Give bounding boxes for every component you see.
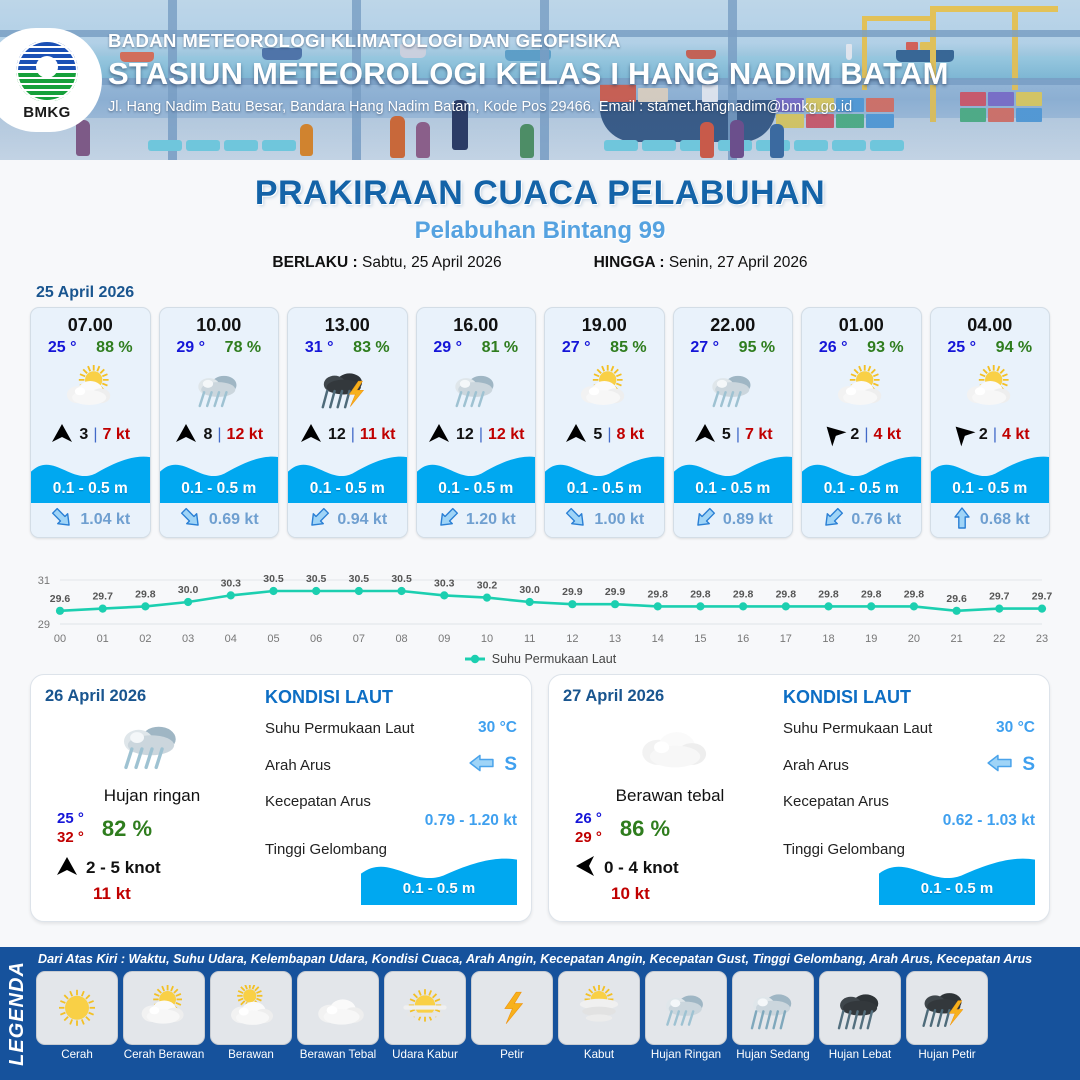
card-wind: 8 | 12 kt (160, 421, 279, 449)
svg-text:29.6: 29.6 (50, 593, 71, 605)
terminal-chair (832, 140, 866, 151)
svg-text:29.8: 29.8 (818, 588, 839, 600)
berawan-tebal-icon (563, 706, 777, 784)
current-speed-row: Kecepatan Arus (265, 793, 517, 810)
card-current-speed: 0.68 kt (980, 511, 1030, 529)
cerah-berawan-icon (802, 357, 921, 421)
validity-row: BERLAKU : Sabtu, 25 April 2026 HINGGA : … (0, 254, 1080, 272)
card-current: 1.04 kt (31, 503, 150, 537)
card-time: 10.00 (160, 308, 279, 336)
wind-separator: | (736, 426, 740, 444)
svg-text:21: 21 (950, 633, 962, 645)
agency-name: BADAN METEOROLOGI KLIMATOLOGI DAN GEOFIS… (108, 30, 949, 52)
card-humidity: 78 % (225, 339, 261, 357)
current-speed-row: Kecepatan Arus (783, 793, 1035, 810)
title-block: PRAKIRAAN CUACA PELABUHAN Pelabuhan Bint… (0, 160, 1080, 272)
svg-text:30.5: 30.5 (391, 573, 412, 585)
svg-text:29: 29 (38, 619, 50, 631)
sst-row: Suhu Permukaan Laut 30 °C (265, 719, 517, 737)
card-time: 22.00 (674, 308, 793, 336)
card-wave-height: 0.1 - 0.5 m (288, 480, 407, 498)
legend-item-label: Cerah Berawan (123, 1048, 205, 1061)
terminal-chair (186, 140, 220, 151)
current-direction-text: S (504, 754, 517, 776)
sst-chart-svg: 293129.60029.70129.80230.00330.30430.505… (18, 550, 1062, 650)
wind-direction-arrow-icon (693, 423, 717, 448)
legend-item: Hujan Ringan (645, 971, 727, 1061)
current-direction-label: Arah Arus (265, 757, 331, 774)
svg-text:02: 02 (139, 633, 151, 645)
svg-text:15: 15 (694, 633, 706, 645)
legend-item-label: Hujan Ringan (645, 1048, 727, 1061)
current-direction-arrow-icon (50, 506, 74, 535)
station-address: Jl. Hang Nadim Batu Besar, Bandara Hang … (108, 99, 949, 115)
card-gust: 7 kt (102, 426, 130, 444)
berawan-icon (210, 971, 292, 1045)
card-current: 1.20 kt (417, 503, 536, 537)
card-temperature: 26 ° (819, 339, 848, 357)
valid-from-label: BERLAKU : (272, 254, 357, 271)
svg-text:29.8: 29.8 (904, 588, 925, 600)
svg-text:08: 08 (395, 633, 407, 645)
daily-temp-max: 32 ° (57, 829, 84, 848)
svg-text:11: 11 (524, 633, 535, 645)
traveller-figure (390, 116, 405, 158)
legend-item-label: Udara Kabur (384, 1048, 466, 1061)
legend-item: Cerah Berawan (123, 971, 205, 1061)
cerah-berawan-icon (31, 357, 150, 421)
svg-text:29.7: 29.7 (1032, 591, 1053, 603)
daily-gust: 11 kt (45, 884, 259, 904)
card-humidity: 83 % (353, 339, 389, 357)
svg-text:03: 03 (182, 633, 194, 645)
card-wind-speed: 2 (850, 426, 859, 444)
current-direction-value: S (468, 748, 517, 782)
cerah-berawan-icon (931, 357, 1050, 421)
card-humidity: 95 % (739, 339, 775, 357)
daily-forecast-panel[interactable]: 26 April 2026 Hujan ringan 25 ° 32 ° 82 … (30, 674, 532, 922)
forecast-date-label: 25 April 2026 (36, 284, 1080, 302)
station-name: STASIUN METEOROLOGI KELAS I HANG NADIM B… (108, 56, 949, 92)
card-wind-speed: 5 (593, 426, 602, 444)
forecast-card[interactable]: 10.00 29 ° 78 % 8 | 12 kt 0.1 - 0.5 m 0.… (159, 307, 280, 538)
chart-legend: Suhu Permukaan Laut (0, 652, 1080, 666)
wind-direction-arrow-icon (55, 856, 79, 881)
daily-gust: 10 kt (563, 884, 777, 904)
svg-text:10: 10 (481, 633, 493, 645)
sea-condition-column: KONDISI LAUT Suhu Permukaan Laut 30 °C A… (777, 687, 1035, 909)
legend-item: Petir (471, 971, 553, 1061)
logo-sun-shape (36, 56, 58, 78)
forecast-card[interactable]: 01.00 26 ° 93 % 2 | 4 kt 0.1 - 0.5 m 0.7… (801, 307, 922, 538)
card-wind: 12 | 11 kt (288, 421, 407, 449)
card-current-speed: 0.94 kt (337, 511, 387, 529)
svg-text:29.8: 29.8 (690, 588, 711, 600)
card-wind: 5 | 7 kt (674, 421, 793, 449)
card-gust: 8 kt (616, 426, 644, 444)
svg-text:30.5: 30.5 (263, 573, 284, 585)
terminal-chair (794, 140, 828, 151)
daily-humidity: 86 % (620, 816, 670, 842)
card-humidity: 88 % (96, 339, 132, 357)
card-gust: 4 kt (873, 426, 901, 444)
traveller-figure (300, 124, 313, 156)
forecast-card[interactable]: 19.00 27 ° 85 % 5 | 8 kt 0.1 - 0.5 m 1.0… (544, 307, 665, 538)
legend-item: Berawan (210, 971, 292, 1061)
current-direction-arrow-icon (307, 506, 331, 535)
daily-temp-max: 29 ° (575, 829, 602, 848)
daily-temp-range: 25 ° 32 ° (57, 810, 84, 848)
current-direction-arrow-icon (950, 506, 974, 535)
svg-text:30.0: 30.0 (178, 584, 199, 596)
wind-direction-arrow-icon (950, 423, 974, 448)
daily-humidity: 82 % (102, 816, 152, 842)
traveller-figure (520, 124, 534, 158)
legend-items: Cerah Cerah Berawan Berawan Berawan Teba… (36, 971, 1074, 1061)
svg-text:29.7: 29.7 (989, 591, 1010, 603)
sst-value: 30 °C (996, 719, 1035, 737)
card-humidity: 94 % (996, 339, 1032, 357)
daily-left-column: 26 April 2026 Hujan ringan 25 ° 32 ° 82 … (45, 687, 259, 909)
wind-direction-arrow-icon (821, 423, 845, 448)
cerah-icon (36, 971, 118, 1045)
sea-condition-title: KONDISI LAUT (783, 687, 1035, 708)
sea-condition-column: KONDISI LAUT Suhu Permukaan Laut 30 °C A… (259, 687, 517, 909)
card-temperature: 29 ° (433, 339, 462, 357)
wind-direction-arrow-icon (564, 423, 588, 448)
traveller-figure (730, 120, 744, 158)
wind-direction-arrow-icon (573, 856, 597, 881)
card-current: 0.76 kt (802, 503, 921, 537)
svg-text:29.8: 29.8 (648, 588, 669, 600)
legend-item: Kabut (558, 971, 640, 1061)
card-current-speed: 0.69 kt (209, 511, 259, 529)
card-wind-speed: 5 (722, 426, 731, 444)
daily-wind-range: 0 - 4 knot (604, 858, 679, 878)
legend-item: Hujan Sedang (732, 971, 814, 1061)
card-time: 07.00 (31, 308, 150, 336)
card-time: 19.00 (545, 308, 664, 336)
legend-side-text: LEGENDA (6, 961, 29, 1066)
current-speed-label: Kecepatan Arus (783, 793, 889, 810)
card-current: 0.68 kt (931, 503, 1050, 537)
cerah-berawan-icon (545, 357, 664, 421)
card-wind-speed: 12 (328, 426, 346, 444)
hourly-forecast-row: 07.00 25 ° 88 % 3 | 7 kt 0.1 - 0.5 m 1.0… (0, 307, 1080, 538)
card-humidity: 93 % (867, 339, 903, 357)
card-wave: 0.1 - 0.5 m (802, 449, 921, 503)
bmkg-emblem-icon (16, 40, 78, 102)
sst-row: Suhu Permukaan Laut 30 °C (783, 719, 1035, 737)
svg-text:12: 12 (566, 633, 578, 645)
legend-item: Udara Kabur (384, 971, 466, 1061)
card-temperature: 25 ° (48, 339, 77, 357)
svg-text:18: 18 (822, 633, 834, 645)
sst-value: 30 °C (478, 719, 517, 737)
svg-text:22: 22 (993, 633, 1005, 645)
card-temp-humidity: 25 ° 88 % (31, 336, 150, 357)
hujan-ringan-icon (160, 357, 279, 421)
current-direction-arrow-icon (821, 506, 845, 535)
card-current-speed: 0.76 kt (851, 511, 901, 529)
card-wind: 2 | 4 kt (931, 421, 1050, 449)
wind-separator: | (864, 426, 868, 444)
card-wind: 3 | 7 kt (31, 421, 150, 449)
wind-separator: | (217, 426, 221, 444)
valid-from-value: Sabtu, 25 April 2026 (362, 254, 502, 271)
cerah-berawan-icon (123, 971, 205, 1045)
legend-body: Dari Atas Kiri : Waktu, Suhu Udara, Kele… (34, 947, 1080, 1080)
daily-condition: Berawan tebal (563, 786, 777, 806)
legend-item-label: Berawan (210, 1048, 292, 1061)
card-wave-height: 0.1 - 0.5 m (31, 480, 150, 498)
svg-text:29.9: 29.9 (605, 586, 626, 598)
card-wave-height: 0.1 - 0.5 m (931, 480, 1050, 498)
current-direction-row: Arah Arus S (783, 748, 1035, 782)
card-wave-height: 0.1 - 0.5 m (802, 480, 921, 498)
card-wind-speed: 12 (456, 426, 474, 444)
legend-item: Cerah (36, 971, 118, 1061)
hujan-ringan-icon (645, 971, 727, 1045)
card-temp-humidity: 27 ° 85 % (545, 336, 664, 357)
svg-text:09: 09 (438, 633, 450, 645)
daily-temps: 25 ° 32 ° 82 % (45, 810, 259, 848)
kabut-icon (558, 971, 640, 1045)
card-temp-humidity: 29 ° 78 % (160, 336, 279, 357)
svg-text:30.5: 30.5 (349, 573, 370, 585)
bmkg-logo-text: BMKG (23, 104, 70, 121)
current-direction-arrow-icon (564, 506, 588, 535)
daily-temp-range: 26 ° 29 ° (575, 810, 602, 848)
current-direction-arrow-icon (986, 748, 1012, 782)
card-humidity: 85 % (610, 339, 646, 357)
card-wave: 0.1 - 0.5 m (545, 449, 664, 503)
card-temperature: 27 ° (690, 339, 719, 357)
card-temperature: 25 ° (947, 339, 976, 357)
daily-temp-min: 26 ° (575, 810, 602, 829)
card-current: 0.94 kt (288, 503, 407, 537)
svg-text:30.3: 30.3 (221, 577, 242, 589)
svg-text:01: 01 (97, 633, 109, 645)
forecast-card[interactable]: 22.00 27 ° 95 % 5 | 7 kt 0.1 - 0.5 m 0.8… (673, 307, 794, 538)
daily-wave-height: 0.1 - 0.5 m (879, 880, 1035, 897)
card-wind-speed: 3 (79, 426, 88, 444)
hujan-ringan-icon (674, 357, 793, 421)
forecast-card[interactable]: 16.00 29 ° 81 % 12 | 12 kt 0.1 - 0.5 m 1… (416, 307, 537, 538)
current-direction-label: Arah Arus (783, 757, 849, 774)
terminal-chair (224, 140, 258, 151)
legend-item-label: Cerah (36, 1048, 118, 1061)
svg-text:04: 04 (225, 633, 237, 645)
hujan-petir-icon (288, 357, 407, 421)
current-direction-arrow-icon (436, 506, 460, 535)
traveller-figure (76, 120, 90, 156)
card-wave: 0.1 - 0.5 m (674, 449, 793, 503)
current-speed-value: 0.62 - 1.03 kt (783, 812, 1035, 830)
svg-text:30.0: 30.0 (519, 584, 540, 596)
terminal-chair (870, 140, 904, 151)
card-gust: 12 kt (227, 426, 263, 444)
current-direction-arrow-icon (693, 506, 717, 535)
card-wave-height: 0.1 - 0.5 m (160, 480, 279, 498)
card-time: 01.00 (802, 308, 921, 336)
svg-text:16: 16 (737, 633, 749, 645)
current-direction-text: S (1022, 754, 1035, 776)
svg-text:29.7: 29.7 (92, 591, 113, 603)
card-temperature: 27 ° (562, 339, 591, 357)
legend-item-label: Petir (471, 1048, 553, 1061)
card-temp-humidity: 26 ° 93 % (802, 336, 921, 357)
forecast-card[interactable]: 04.00 25 ° 94 % 2 | 4 kt 0.1 - 0.5 m 0.6… (930, 307, 1051, 538)
legend-item: Hujan Petir (906, 971, 988, 1061)
wind-separator: | (479, 426, 483, 444)
card-time: 16.00 (417, 308, 536, 336)
svg-text:30.3: 30.3 (434, 577, 455, 589)
svg-text:07: 07 (353, 633, 365, 645)
svg-text:30.2: 30.2 (477, 580, 498, 592)
daily-wave-graphic: 0.1 - 0.5 m (361, 851, 517, 905)
wind-direction-arrow-icon (174, 423, 198, 448)
card-wave: 0.1 - 0.5 m (417, 449, 536, 503)
card-current: 0.89 kt (674, 503, 793, 537)
daily-forecast-row: 26 April 2026 Hujan ringan 25 ° 32 ° 82 … (0, 666, 1080, 922)
legend-bar: LEGENDA Dari Atas Kiri : Waktu, Suhu Uda… (0, 947, 1080, 1080)
terminal-chair (148, 140, 182, 151)
header-text-block: BADAN METEOROLOGI KLIMATOLOGI DAN GEOFIS… (108, 30, 949, 115)
card-gust: 4 kt (1002, 426, 1030, 444)
wind-separator: | (993, 426, 997, 444)
svg-text:29.8: 29.8 (733, 588, 754, 600)
card-temp-humidity: 29 ° 81 % (417, 336, 536, 357)
terminal-chair (642, 140, 676, 151)
daily-condition: Hujan ringan (45, 786, 259, 806)
card-wind: 2 | 4 kt (802, 421, 921, 449)
legend-item-label: Kabut (558, 1048, 640, 1061)
legend-item-label: Hujan Petir (906, 1048, 988, 1061)
current-direction-value: S (986, 748, 1035, 782)
current-direction-row: Arah Arus S (265, 748, 517, 782)
sst-label: Suhu Permukaan Laut (783, 720, 932, 737)
svg-text:31: 31 (38, 575, 50, 587)
daily-wind: 2 - 5 knot (45, 856, 259, 881)
card-wave: 0.1 - 0.5 m (31, 449, 150, 503)
svg-text:17: 17 (780, 633, 792, 645)
legend-item-label: Berawan Tebal (297, 1048, 379, 1061)
svg-text:19: 19 (865, 633, 877, 645)
berawan-tebal-icon (297, 971, 379, 1045)
card-wave: 0.1 - 0.5 m (160, 449, 279, 503)
daily-wave-graphic: 0.1 - 0.5 m (879, 851, 1035, 905)
card-current: 1.00 kt (545, 503, 664, 537)
card-wind: 12 | 12 kt (417, 421, 536, 449)
terminal-chair (262, 140, 296, 151)
svg-text:13: 13 (609, 633, 621, 645)
card-current-speed: 1.04 kt (80, 511, 130, 529)
current-direction-arrow-icon (468, 748, 494, 782)
daily-wind: 0 - 4 knot (563, 856, 777, 881)
card-gust: 12 kt (488, 426, 524, 444)
card-humidity: 81 % (482, 339, 518, 357)
legend-note: Dari Atas Kiri : Waktu, Suhu Udara, Kele… (36, 952, 1074, 966)
valid-to-label: HINGGA : (594, 254, 665, 271)
page-title: PRAKIRAAN CUACA PELABUHAN (0, 174, 1080, 213)
daily-wave-height: 0.1 - 0.5 m (361, 880, 517, 897)
traveller-figure (770, 124, 784, 158)
legend-side-label: LEGENDA (0, 947, 34, 1080)
card-wind-speed: 8 (203, 426, 212, 444)
card-gust: 7 kt (745, 426, 773, 444)
legend-item-label: Hujan Sedang (732, 1048, 814, 1061)
valid-to: HINGGA : Senin, 27 April 2026 (594, 254, 808, 272)
daily-temp-min: 25 ° (57, 810, 84, 829)
card-wind-speed: 2 (979, 426, 988, 444)
svg-text:29.9: 29.9 (562, 586, 583, 598)
forecast-card[interactable]: 07.00 25 ° 88 % 3 | 7 kt 0.1 - 0.5 m 1.0… (30, 307, 151, 538)
svg-text:30.5: 30.5 (306, 573, 327, 585)
svg-text:29.8: 29.8 (861, 588, 882, 600)
card-temp-humidity: 27 ° 95 % (674, 336, 793, 357)
page-header: BMKG BADAN METEOROLOGI KLIMATOLOGI DAN G… (0, 0, 1080, 160)
valid-to-value: Senin, 27 April 2026 (669, 254, 808, 271)
bmkg-logo: BMKG (0, 28, 102, 132)
svg-text:29.6: 29.6 (946, 593, 967, 605)
wind-direction-arrow-icon (50, 423, 74, 448)
card-wave-height: 0.1 - 0.5 m (417, 480, 536, 498)
card-wave: 0.1 - 0.5 m (288, 449, 407, 503)
petir-icon (471, 971, 553, 1045)
legend-item-label: Hujan Lebat (819, 1048, 901, 1061)
hujan-petir-icon (906, 971, 988, 1045)
current-speed-value: 0.79 - 1.20 kt (265, 812, 517, 830)
card-wave: 0.1 - 0.5 m (931, 449, 1050, 503)
wind-separator: | (607, 426, 611, 444)
svg-text:05: 05 (267, 633, 279, 645)
card-current-speed: 1.20 kt (466, 511, 516, 529)
svg-text:00: 00 (54, 633, 66, 645)
wind-separator: | (93, 426, 97, 444)
current-speed-label: Kecepatan Arus (265, 793, 371, 810)
forecast-card[interactable]: 13.00 31 ° 83 % 12 | 11 kt 0.1 - 0.5 m 0… (287, 307, 408, 538)
valid-from: BERLAKU : Sabtu, 25 April 2026 (272, 254, 501, 272)
card-current: 0.69 kt (160, 503, 279, 537)
wind-direction-arrow-icon (427, 423, 451, 448)
svg-text:06: 06 (310, 633, 322, 645)
port-name: Pelabuhan Bintang 99 (0, 217, 1080, 245)
card-wind: 5 | 8 kt (545, 421, 664, 449)
svg-text:29.8: 29.8 (135, 588, 156, 600)
card-current-speed: 1.00 kt (594, 511, 644, 529)
card-temperature: 29 ° (176, 339, 205, 357)
daily-left-column: 27 April 2026 Berawan tebal 26 ° 29 ° 86… (563, 687, 777, 909)
current-direction-arrow-icon (179, 506, 203, 535)
card-time: 13.00 (288, 308, 407, 336)
traveller-figure (416, 122, 430, 158)
udara-kabur-icon (384, 971, 466, 1045)
card-temp-humidity: 25 ° 94 % (931, 336, 1050, 357)
wind-direction-arrow-icon (299, 423, 323, 448)
svg-text:23: 23 (1036, 633, 1048, 645)
svg-text:29.8: 29.8 (776, 588, 797, 600)
hujan-ringan-icon (45, 706, 259, 784)
daily-forecast-panel[interactable]: 27 April 2026 Berawan tebal 26 ° 29 ° 86… (548, 674, 1050, 922)
svg-text:20: 20 (908, 633, 920, 645)
hujan-ringan-icon (417, 357, 536, 421)
sst-label: Suhu Permukaan Laut (265, 720, 414, 737)
sea-condition-title: KONDISI LAUT (265, 687, 517, 708)
hujan-sedang-icon (732, 971, 814, 1045)
card-wave-height: 0.1 - 0.5 m (674, 480, 793, 498)
daily-temps: 26 ° 29 ° 86 % (563, 810, 777, 848)
